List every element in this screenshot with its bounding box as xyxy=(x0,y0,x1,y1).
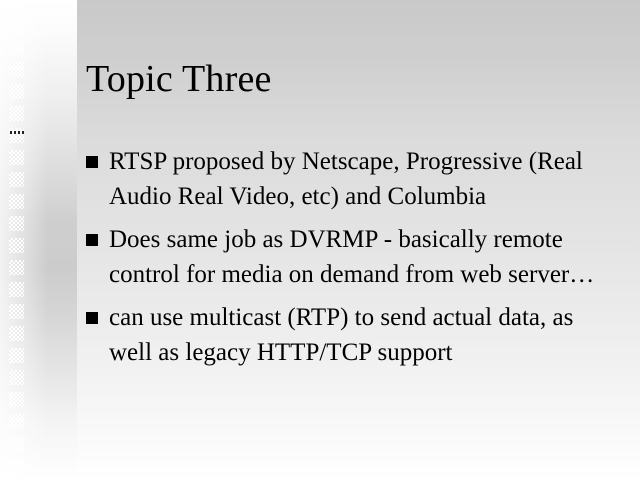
checker-square xyxy=(9,216,24,231)
checker-square-column xyxy=(9,0,24,480)
checker-square xyxy=(9,348,24,363)
checker-square xyxy=(9,18,24,33)
bullet-text: RTSP proposed by Netscape, Progressive (… xyxy=(109,144,622,214)
bullet-list: RTSP proposed by Netscape, Progressive (… xyxy=(86,144,622,378)
filled-square-bullet-icon xyxy=(86,156,98,168)
checker-square xyxy=(9,304,24,319)
bullet-text: can use multicast (RTP) to send actual d… xyxy=(109,300,622,370)
slide-title: Topic Three xyxy=(86,57,272,101)
checker-square xyxy=(9,238,24,253)
checker-square xyxy=(9,458,24,473)
slide-canvas: Topic Three RTSP proposed by Netscape, P… xyxy=(0,0,640,480)
checker-square xyxy=(9,150,24,165)
bullet-item: can use multicast (RTP) to send actual d… xyxy=(86,300,622,370)
checker-square xyxy=(9,436,24,451)
filled-square-bullet-icon xyxy=(86,234,98,246)
checker-square xyxy=(9,0,24,11)
checker-square xyxy=(9,282,24,297)
checker-square xyxy=(9,106,24,121)
checker-square xyxy=(9,414,24,429)
dashed-tick-marker-icon xyxy=(10,131,24,134)
checker-square xyxy=(9,40,24,55)
checker-square xyxy=(9,194,24,209)
bullet-text: Does same job as DVRMP - basically remot… xyxy=(109,222,622,292)
checker-square xyxy=(9,370,24,385)
checker-square xyxy=(9,392,24,407)
checker-square xyxy=(9,172,24,187)
bullet-item: Does same job as DVRMP - basically remot… xyxy=(86,222,622,292)
checker-square xyxy=(9,84,24,99)
checker-square xyxy=(9,62,24,77)
checker-square xyxy=(9,260,24,275)
checker-square xyxy=(9,326,24,341)
bullet-item: RTSP proposed by Netscape, Progressive (… xyxy=(86,144,622,214)
filled-square-bullet-icon xyxy=(86,312,98,324)
